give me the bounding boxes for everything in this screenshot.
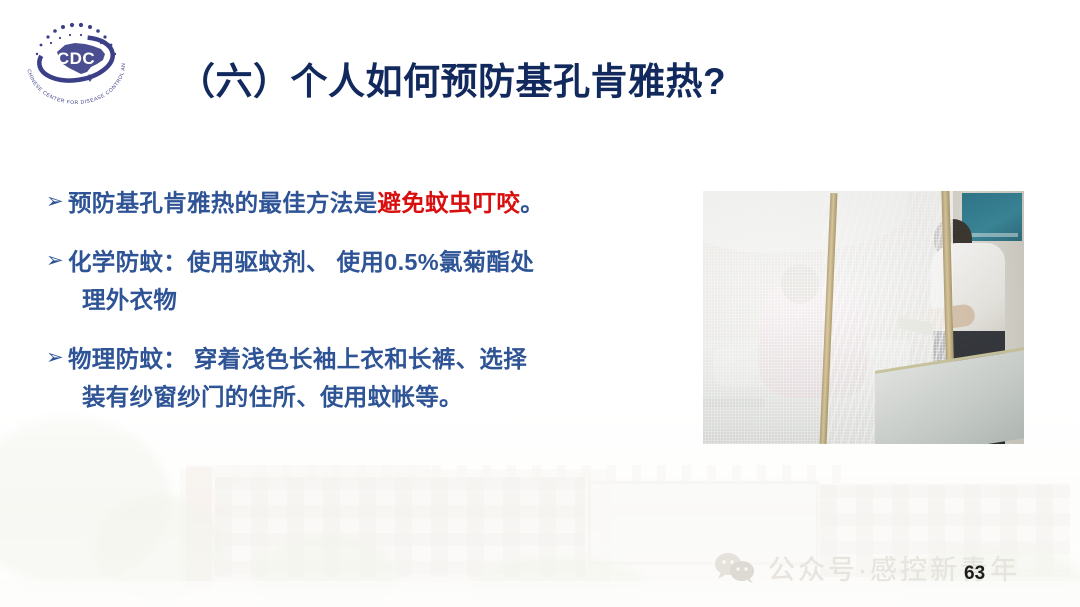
bullet-1-text-post: 。 — [520, 190, 544, 216]
bullet-marker-icon: ➢ — [46, 185, 64, 219]
svg-text:CDC: CDC — [57, 49, 95, 68]
bullet-3-text-line2: 装有纱窗纱门的住所、使用蚊帐等。 — [68, 378, 646, 416]
bullet-marker-icon: ➢ — [46, 341, 64, 375]
bullet-item-1: ➢ 预防基孔肯雅热的最佳方法是避免蚊虫叮咬。 — [46, 184, 646, 222]
bullet-1-text-accent: 避免蚊虫叮咬 — [377, 190, 520, 216]
slide-canvas: CHINESE CENTER FOR DISEASE CONTROL AND P… — [0, 0, 1080, 607]
bullet-list: ➢ 预防基孔肯雅热的最佳方法是避免蚊虫叮咬。 ➢ 化学防蚊：使用驱蚊剂、 使用0… — [46, 184, 646, 416]
mosquito-net-hospital-bed-photo — [703, 191, 1024, 444]
bullet-marker-icon: ➢ — [46, 244, 64, 278]
page-number: 63 — [964, 563, 985, 585]
bullet-item-2: ➢ 化学防蚊：使用驱蚊剂、 使用0.5%氯菊酯处 理外衣物 — [46, 243, 646, 319]
wechat-icon — [713, 552, 757, 584]
page-title: （六）个人如何预防基孔肯雅热? — [178, 51, 726, 105]
bullet-2-text-line1: 化学防蚊：使用驱蚊剂、 使用0.5%氯菊酯处 — [68, 249, 534, 275]
china-cdc-logo: CHINESE CENTER FOR DISEASE CONTROL AND P… — [17, 12, 135, 112]
bullet-3-text-line1: 物理防蚊： 穿着浅色长袖上衣和长裤、选择 — [68, 346, 527, 372]
bullet-2-text-line2: 理外衣物 — [68, 281, 646, 319]
bullet-1-text-pre: 预防基孔肯雅热的最佳方法是 — [68, 190, 377, 216]
bullet-item-3: ➢ 物理防蚊： 穿着浅色长袖上衣和长裤、选择 装有纱窗纱门的住所、使用蚊帐等。 — [46, 340, 646, 416]
